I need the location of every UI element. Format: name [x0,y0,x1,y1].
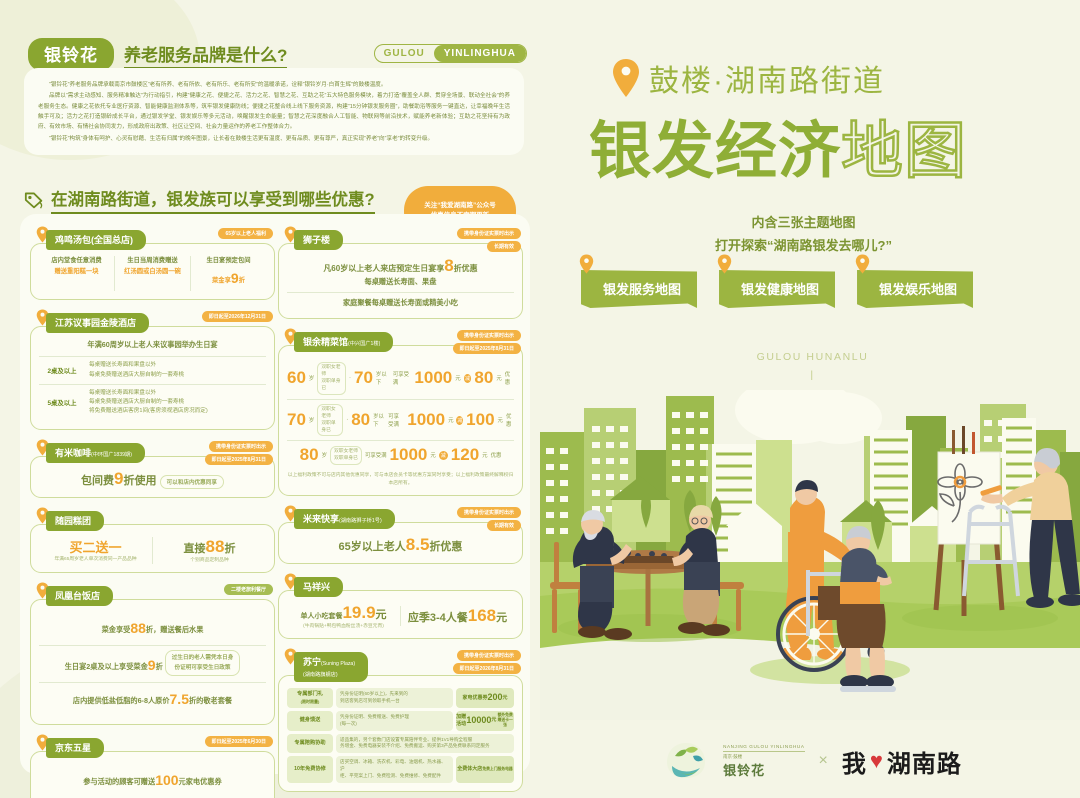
card-body: 单人小吃套餐19.9元(牛肉锅贴+鸭包鸭血粉丝汤+赤豆元宵)应季3-4人餐168… [278,590,523,639]
theme-map-ribbon-label: 银发健康地图 [719,270,835,308]
card-badge: 65岁以上老人福利 [218,228,273,239]
merchant-name: 苏宁(Suning Plaza)(湖南路旗舰店) [294,652,368,682]
card-badge: 即日起至2026年8月31日 [453,663,521,674]
offer-headline: 年满60周岁以上老人来议事园举办生日宴 [39,339,266,352]
hero-subtitle-row: 鼓楼·湖南路街道 [611,56,885,100]
card-body: 店内堂食任意消费赠送重阳糕一块生日当周消费赠送红汤圆或白汤圆一碗生日宴预定包间菜… [30,243,275,300]
location-pin-icon [855,254,870,274]
card-badges: 携带身份证实票时出示长期有效 [457,228,521,252]
discount-column-left: 65岁以上老人福利鸡鸣汤包(全国总店)店内堂食任意消费赠送重阳糕一块生日当周消费… [30,226,275,798]
offer-tier: 80岁双职女老师双职单身已可享受满1000元减120元优惠 [287,440,514,469]
card-body: 凡60岁以上老人来店预定生日宴享8折优惠每桌赠送长寿面、果盘家庭聚餐每桌赠送长寿… [278,243,523,319]
offer-row-amount: 加赠活动10000元额外免费赠送卡一张 [456,711,514,731]
merchant-name: 狮子楼 [294,230,343,250]
card-badge: 即日起至2026年12月31日 [202,311,273,322]
theme-map-ribbon[interactable]: 银发娱乐地图 [857,270,973,308]
offer-row-amount: 家电优惠券200元 [456,688,514,708]
card-body: 年满60周岁以上老人来议事园举办生日宴2桌及以上每桌赠送长寿面和果盘以外每桌免费… [30,326,275,430]
card-badge: 携带身份证实票时出示 [209,441,273,452]
merchant-offer-card[interactable]: 携带身份证实票时出示即日起至2026年8月31日苏宁(Suning Plaza)… [278,648,523,792]
offer-row-key: 10年免费协修 [287,756,333,783]
intro-paragraph-1: “银铃花”养老服务品牌承载南京市鼓楼区“老有所养、老有所依、老有所乐、老有所安”… [38,80,510,90]
offer-line: 生日宴2桌及以上享受菜金9折 过生日的老人需凭本日身份证明可享受生日政策 [39,645,266,682]
offer-line: 家庭聚餐每桌赠送长寿面或精美小吃 [287,292,514,310]
offer-headline: 凡60岁以上老人来店预定生日宴享8折优惠 [287,256,514,276]
logo-english: NANJING GULOU YINLINGHUA [723,744,804,752]
hunanlu-name: 湖南路 [887,744,962,779]
gulou-yinlinghua-tag: GULOU YINLINGHUA [374,44,527,63]
merchant-offer-card[interactable]: 携带身份证实票时出示长期有效米来快享(湖南路狮子桥1号)65岁以上老人8.5折优… [278,505,523,564]
location-pin-icon [717,254,732,274]
english-line-1: GULOU HUNANLU [545,348,1080,366]
offer-row-key: 5桌及以上 [41,398,83,407]
card-badge: 即日起至2025年6月30日 [205,736,273,747]
offer-cell: 直接88折个别商品定制品种 [152,537,266,564]
merchant-offer-card[interactable]: 二楼老旅利餐厅凤凰台饭店菜金享受88折，赠送餐后水果生日宴2桌及以上享受菜金9折… [30,582,275,726]
offer-row-key: 专属部门礼(限时限量) [287,688,333,708]
offer-row: 10年免费协修店买空调、冰箱、洗衣机、彩电、油烟机、热水器、沪柜、平完案上门、免… [287,756,514,783]
theme-map-ribbon[interactable]: 银发服务地图 [581,270,697,308]
hero-title-solid: 银发经济 [589,117,841,186]
logo-chinese: 银铃花 [723,760,804,779]
hero-title-outline: 地图 [841,117,967,186]
tag-gulou: GULOU [375,48,434,59]
hero-title: 银发经济地图 [589,100,967,190]
offer-note: 可以和店内优惠同享 [160,475,224,489]
card-badges: 携带身份证实票时出示即日起至2026年8月31日 [453,650,521,674]
offer-note: 过生日的老人需凭本日身份证明可享受生日政策 [165,650,241,676]
footer-logos: NANJING GULOU YINLINGHUA 南京·鼓楼 银铃花 × 我 ♥… [545,740,1080,782]
card-badges: 65岁以上老人福利 [218,228,273,239]
offer-row-value: 凭身份证明(60岁以上)，先来到的到店客到店可到领取手机一台 [336,688,453,708]
offer-headline: 包间费9折使用 可以和店内优惠同享 [39,469,266,489]
card-badge: 携带身份证实票时出示 [457,330,521,341]
offer-row: 2桌及以上每桌赠送长寿面和果盘以外每桌免费赠送酒店大厨自制的一套寿桃 [39,356,266,383]
card-header: 马祥兴 [278,573,523,597]
price-tag-icon [24,191,44,209]
merchant-offer-card[interactable]: 携带身份证实票时出示即日起至2025年8月31日有米咖啡(中环国广1839期)包… [30,439,275,498]
card-badge: 携带身份证实票时出示 [457,228,521,239]
card-body: 专属部门礼(限时限量)凭身份证明(60岁以上)，先来到的到店客到店可到领取手机一… [278,675,523,792]
section-discounts-header: 在湖南路街道，银发族可以享受到哪些优惠? [24,186,375,214]
theme-map-ribbon[interactable]: 银发健康地图 [719,270,835,308]
left-panel: 银铃花 养老服务品牌是什么? GULOU YINLINGHUA “银铃花”养老服… [0,0,545,798]
hero-description: 内含三张主题地图 打开探索“湖南路银发去哪儿?” [545,212,1062,258]
merchant-offer-card[interactable]: 65岁以上老人福利鸡鸣汤包(全国总店)店内堂食任意消费赠送重阳糕一块生日当周消费… [30,226,275,300]
collab-x-icon: × [819,752,828,770]
hero-desc-line-2: 打开探索“湖南路银发去哪儿?” [545,235,1062,258]
offer-line: 参与活动的顾客可赠送100元家电优惠券 [39,764,266,797]
english-divider: | [545,366,1080,384]
offer-line: 店内提供低盐低脂的6-8人原价7.5折的敬老套餐 [39,682,266,716]
card-badge: 即日起至2025年8月31日 [205,454,273,465]
merchant-offer-card[interactable]: 即日起至2025年6月30日京东五星参与活动的顾客可赠送100元家电优惠券家电预… [30,734,275,798]
card-body: 60岁双职女老师双职单身已·70岁以下可享受满1000元减80元优惠70岁双职女… [278,345,523,496]
offer-row-amount: 全费体大店免费上门服务电器 [456,756,514,783]
offer-headline: 65岁以上老人8.5折优惠 [287,535,514,555]
elderly-scene-illustration [540,390,1080,720]
offer-tier: 70岁双职女老师双职单身已·80岁以下可享受满1000元减100元优惠 [287,399,514,441]
yinlinghua-logo-icon [663,740,709,782]
offer-cell: 应季3-4人餐168元 [400,606,514,626]
offer-cell: 买二送一年满65周岁老人单次消费同一产品品种 [39,537,152,563]
card-badges: 携带身份证实票时出示长期有效 [457,507,521,531]
logo-text-block: NANJING GULOU YINLINGHUA 南京·鼓楼 银铃花 [723,744,804,779]
merchant-name: 有米咖啡(中环国广1839期) [46,443,145,463]
offer-cell: 生日当周消费赠送红汤圆或白汤圆一碗 [114,256,190,291]
offer-row-key: 2桌及以上 [41,366,83,375]
location-pin-icon [579,254,594,274]
merchant-name: 随园糕团 [46,511,104,531]
offer-row: 专属陪购协助适品集的，另个套数门店设置专属陪伴专业、提供1V1导购全程服务增金、… [287,734,514,754]
brand-header: 银铃花 养老服务品牌是什么? [28,38,287,71]
offer-row: 专属部门礼(限时限量)凭身份证明(60岁以上)，先来到的到店客到店可到领取手机一… [287,688,514,708]
offer-row: 健身馈送凭身份证明、免费赠送、免费护理(每一次)加赠活动10000元额外免费赠送… [287,711,514,731]
hunanlu-logo: 我 ♥ 湖南路 [842,744,962,779]
card-body: 买二送一年满65周岁老人单次消费同一产品品种直接88折个别商品定制品种 [30,524,275,573]
card-badge: 即日起至2025年8月31日 [453,343,521,354]
offer-row-value: 凭身份证明、免费赠送、免费护理(每一次) [336,711,453,731]
merchant-name: 凤凰台饭店 [46,586,113,606]
offer-row-key: 健身馈送 [287,711,333,731]
bubble-line-1: 关注“我爱湖南路”公众号 [424,201,496,211]
location-pin-icon [611,58,641,98]
merchant-name: 京东五星 [46,738,104,758]
offer-row-value: 店买空调、冰箱、洗衣机、彩电、油烟机、热水器、沪柜、平完案上门、免费检测、免费维… [336,756,453,783]
card-badges: 即日起至2025年6月30日 [205,736,273,747]
offer-row-value: 每桌赠送长寿面和果盘以外每桌免费赠送酒店大厨自制的一套寿桃 [89,361,184,379]
offer-cell: 单人小吃套餐19.9元(牛肉锅贴+鸭包鸭血粉丝汤+赤豆元宵) [287,603,400,630]
offer-row-value: 适品集的，另个套数门店设置专属陪伴专业、提供1V1导购全程服务增金、免费电器安装… [336,734,514,754]
card-body: 菜金享受88折，赠送餐后水果生日宴2桌及以上享受菜金9折 过生日的老人需凭本日身… [30,599,275,726]
hero-subtitle: 鼓楼·湖南路街道 [649,56,885,100]
merchant-offer-card[interactable]: 携带身份证实票时出示即日起至2025年8月31日银余精菜馆(中兴国广1楼)60岁… [278,328,523,496]
merchant-name: 马祥兴 [294,577,343,597]
card-badge: 携带身份证实票时出示 [457,650,521,661]
card-badge: 长期有效 [487,241,521,252]
card-badges: 携带身份证实票时出示即日起至2025年8月31日 [205,441,273,465]
merchant-offer-card[interactable]: 随园糕团买二送一年满65周岁老人单次消费同一产品品种直接88折个别商品定制品种 [30,507,275,573]
intro-card: “银铃花”养老服务品牌承载南京市鼓楼区“老有所养、老有所依、老有所乐、老有所安”… [24,68,524,155]
discount-cards-container: 65岁以上老人福利鸡鸣汤包(全国总店)店内堂食任意消费赠送重阳糕一块生日当周消费… [20,214,530,774]
offer-line: 每桌赠送长寿面、果盘 [287,276,514,289]
theme-map-ribbon-label: 银发娱乐地图 [857,270,973,308]
hero-desc-line-1: 内含三张主题地图 [545,212,1062,235]
heart-icon: ♥ [870,748,884,774]
card-badge: 二楼老旅利餐厅 [224,584,273,595]
theme-map-ribbon-label: 银发服务地图 [581,270,697,308]
offer-row-key: 专属陪购协助 [287,734,333,754]
merchant-name: 米来快享(湖南路狮子桥1号) [294,509,395,529]
offer-tier: 60岁双职女老师双职单身已·70岁以下可享受满1000元减80元优惠 [287,358,514,399]
merchant-name: 江苏议事园金陵酒店 [46,313,149,333]
card-header: 随园糕团 [30,507,275,531]
brand-question: 养老服务品牌是什么? [124,41,287,69]
theme-map-ribbons: 银发服务地图银发健康地图银发娱乐地图 [581,270,973,308]
offer-cell: 店内堂食任意消费赠送重阳糕一块 [39,256,114,291]
brand-pill: 银铃花 [28,38,114,71]
tag-yinlinghua: YINLINGHUA [434,45,526,62]
card-badges: 携带身份证实票时出示即日起至2025年8月31日 [453,330,521,354]
merchant-name: 鸡鸣汤包(全国总店) [46,230,146,250]
merchant-offer-card[interactable]: 携带身份证实票时出示长期有效狮子楼凡60岁以上老人来店预定生日宴享8折优惠每桌赠… [278,226,523,319]
hunanlu-wo: 我 [842,744,867,779]
card-badges: 二楼老旅利餐厅 [224,584,273,595]
intro-paragraph-2: 品牌以“需求主动感知、服务精准触达”为行动指引，构建“健康之花、便捷之花、活力之… [38,91,510,132]
offer-row: 5桌及以上每桌赠送长寿面和果盘以外每桌免费赠送酒店大厨自制的一套寿桃将免费赠送酒… [39,384,266,421]
card-badge: 长期有效 [487,520,521,531]
card-badges: 即日起至2026年12月31日 [202,311,273,322]
offer-footnote: 以上福利政策不可与店内其他优惠同享，可与本店会员卡等优惠方案同时享受；以上福利政… [287,472,514,486]
merchant-offer-card[interactable]: 即日起至2026年12月31日江苏议事园金陵酒店年满60周岁以上老人来议事园举办… [30,309,275,430]
merchant-name: 银余精菜馆(中兴国广1楼) [294,332,393,352]
right-panel: 鼓楼·湖南路街道 银发经济地图 内含三张主题地图 打开探索“湖南路银发去哪儿?”… [545,0,1080,798]
poster-root: 银铃花 养老服务品牌是什么? GULOU YINLINGHUA “银铃花”养老服… [0,0,1080,798]
intro-paragraph-3: “银铃花”构筑“身体有呵护、心灵有慰藉、生活有归属”的晚年图景，让长者在鼓楼生活… [38,134,510,144]
section-discounts-title: 在湖南路街道，银发族可以享受到哪些优惠? [51,186,375,214]
offer-line: 菜金享受88折，赠送餐后水果 [39,612,266,645]
card-badge: 携带身份证实票时出示 [457,507,521,518]
merchant-offer-card[interactable]: 马祥兴单人小吃套餐19.9元(牛肉锅贴+鸭包鸭血粉丝汤+赤豆元宵)应季3-4人餐… [278,573,523,639]
offer-row-value: 每桌赠送长寿面和果盘以外每桌免费赠送酒店大厨自制的一套寿桃将免费赠送酒店客房1间… [89,389,208,417]
offer-cell: 生日宴预定包间菜金享9折 [190,256,266,291]
discount-column-right: 携带身份证实票时出示长期有效狮子楼凡60岁以上老人来店预定生日宴享8折优惠每桌赠… [278,226,523,798]
